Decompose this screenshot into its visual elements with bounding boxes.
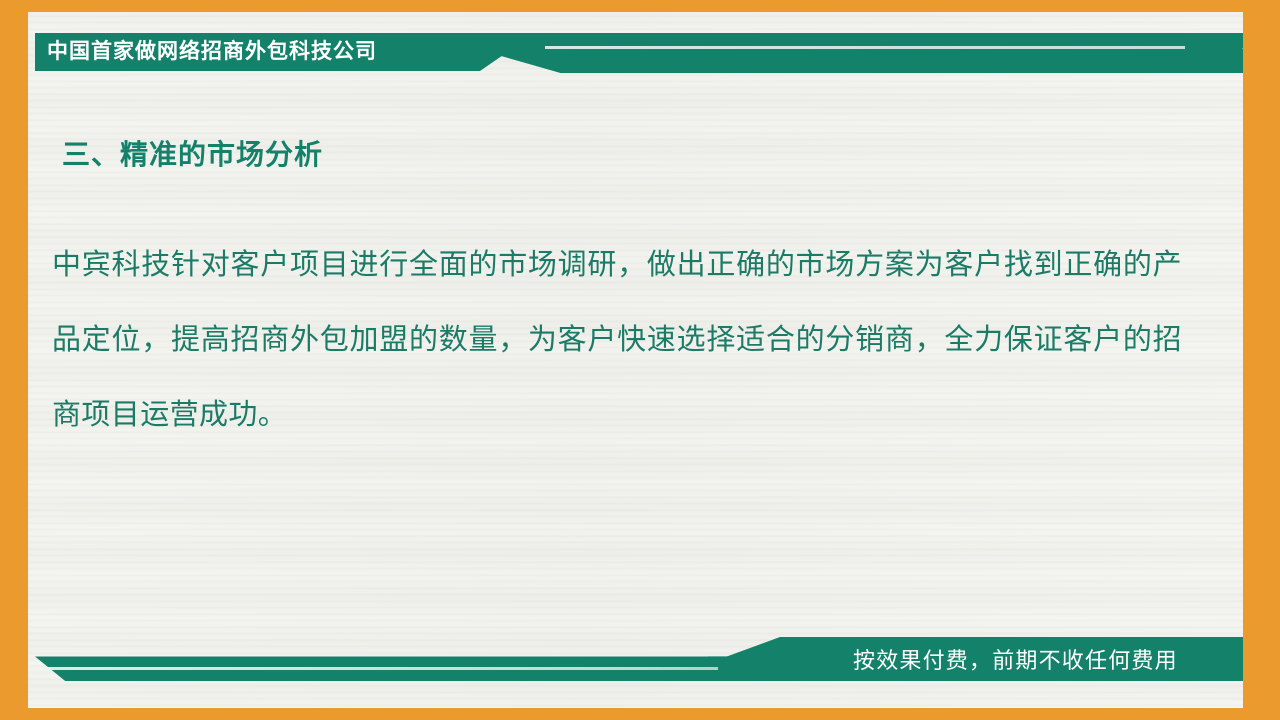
section-body-paragraph: 中宾科技针对客户项目进行全面的市场调研，做出正确的市场方案为客户找到正确的产品定… (52, 228, 1182, 453)
presentation-slide: 中国首家做网络招商外包科技公司 三、精准的市场分析 中宾科技针对客户项目进行全面… (0, 0, 1280, 720)
footer-slogan: 按效果付费，前期不收任何费用 (853, 645, 1178, 677)
company-tagline: 中国首家做网络招商外包科技公司 (47, 34, 377, 70)
header-hairline-divider (545, 46, 1243, 49)
footer-hairline-divider (38, 667, 718, 670)
section-heading: 三、精准的市场分析 (62, 133, 323, 173)
